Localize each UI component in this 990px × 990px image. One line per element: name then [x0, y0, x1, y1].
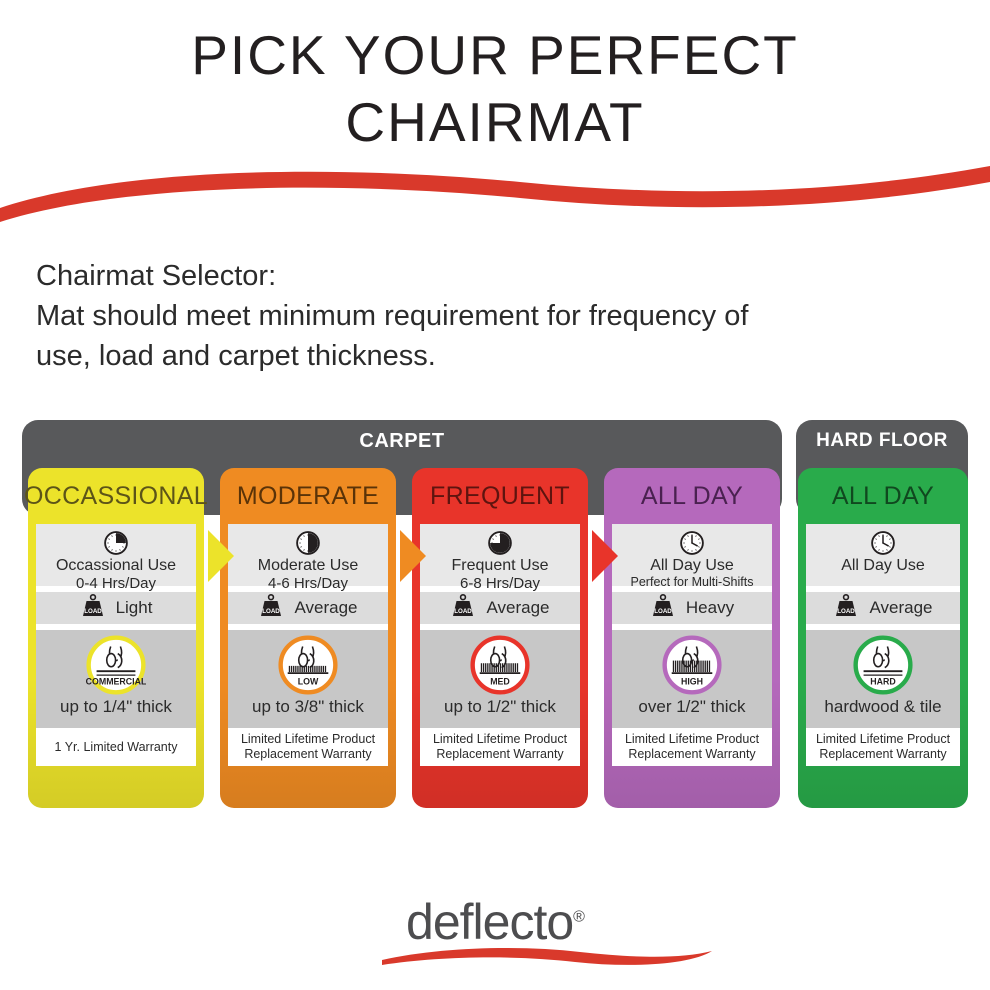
flow-arrow-icon: [208, 530, 234, 582]
caster-wheel-high-pile-icon: HIGH: [612, 635, 772, 695]
svg-text:LOAD: LOAD: [263, 608, 281, 615]
load-value: Average: [294, 598, 357, 618]
group-label-hard-floor: HARD FLOOR: [796, 430, 968, 452]
warranty-text: Limited Lifetime ProductReplacement Warr…: [625, 732, 759, 762]
frequency-of-use-cell: All Day Use: [806, 524, 960, 586]
load-value: Light: [116, 598, 153, 618]
thickness-value: hardwood & tile: [806, 697, 960, 717]
warranty-cell: Limited Lifetime ProductReplacement Warr…: [612, 728, 772, 766]
brand-name: deflecto: [406, 894, 573, 950]
column-header-frequent: FREQUENT: [412, 468, 588, 524]
chart-column-carpet-3[interactable]: FREQUENTFrequent Use6-8 Hrs/DayLOADAvera…: [412, 468, 588, 808]
use-label: All Day Use: [612, 558, 772, 575]
warranty-text: Limited Lifetime ProductReplacement Warr…: [816, 732, 950, 762]
load-value: Average: [869, 598, 932, 618]
use-subtext: Perfect for Multi-Shifts: [612, 575, 772, 590]
warranty-line-1: 1 Yr. Limited Warranty: [55, 740, 178, 755]
thickness-value: up to 1/2" thick: [420, 697, 580, 717]
svg-text:LOAD: LOAD: [84, 608, 102, 615]
load-weight-icon: LOAD: [450, 594, 476, 623]
thickness-value: over 1/2" thick: [612, 697, 772, 717]
frequency-of-use-cell: Frequent Use6-8 Hrs/Day: [420, 524, 580, 586]
intro-line-2: Mat should meet minimum requirement for …: [36, 296, 946, 336]
svg-text:MED: MED: [490, 676, 510, 686]
load-value: Average: [486, 598, 549, 618]
flow-arrow-icon: [400, 530, 426, 582]
registered-trademark-icon: ®: [573, 908, 584, 925]
chart-column-hard-floor-5[interactable]: ALL DAYAll Day UseLOADAverageHARDhardwoo…: [798, 468, 968, 808]
use-label: Moderate Use: [228, 558, 388, 575]
chart-column-carpet-4[interactable]: ALL DAYAll Day UsePerfect for Multi-Shif…: [604, 468, 780, 808]
carpet-thickness-cell: HIGHover 1/2" thick: [612, 630, 772, 728]
clock-quarter-icon: [36, 528, 196, 558]
use-label: Frequent Use: [420, 558, 580, 575]
load-cell: LOADLight: [36, 592, 196, 624]
intro-line-3: use, load and carpet thickness.: [36, 336, 946, 376]
svg-text:LOAD: LOAD: [455, 608, 473, 615]
frequency-of-use-cell: Occassional Use0-4 Hrs/Day: [36, 524, 196, 586]
infographic-page: PICK YOUR PERFECT CHAIRMAT Chairmat Sele…: [0, 0, 990, 990]
thickness-value: up to 1/4" thick: [36, 697, 196, 717]
warranty-line-1: Limited Lifetime Product: [433, 732, 567, 747]
load-weight-icon: LOAD: [80, 594, 106, 623]
svg-text:LOAD: LOAD: [654, 608, 672, 615]
caster-wheel-low-pile-icon: LOW: [228, 635, 388, 695]
use-label: Occassional Use: [36, 558, 196, 575]
svg-text:COMMERCIAL: COMMERCIAL: [86, 676, 146, 686]
column-header-all-day: ALL DAY: [798, 468, 968, 524]
flow-arrow-icon: [592, 530, 618, 582]
svg-text:LOW: LOW: [298, 676, 319, 686]
load-weight-icon: LOAD: [650, 594, 676, 623]
warranty-line-1: Limited Lifetime Product: [816, 732, 950, 747]
clock-full-icon: [612, 528, 772, 558]
warranty-line-1: Limited Lifetime Product: [241, 732, 375, 747]
clock-half-icon: [228, 528, 388, 558]
page-title: PICK YOUR PERFECT CHAIRMAT: [0, 22, 990, 156]
chairmat-selector-chart: CARPET HARD FLOOR OCCASSIONALOccassional…: [0, 420, 990, 820]
load-cell: LOADAverage: [806, 592, 960, 624]
load-weight-icon: LOAD: [258, 594, 284, 623]
title-line-1: PICK YOUR PERFECT: [191, 24, 799, 86]
intro-line-1: Chairmat Selector:: [36, 256, 946, 296]
use-hours: 0-4 Hrs/Day: [36, 575, 196, 592]
logo-red-swoosh: [0, 943, 990, 969]
brand-logo: deflecto®: [0, 893, 990, 968]
chart-column-carpet-2[interactable]: MODERATEModerate Use4-6 Hrs/DayLOADAvera…: [220, 468, 396, 808]
use-hours: 6-8 Hrs/Day: [420, 575, 580, 592]
intro-paragraph: Chairmat Selector: Mat should meet minim…: [36, 256, 946, 376]
warranty-cell: Limited Lifetime ProductReplacement Warr…: [228, 728, 388, 766]
frequency-of-use-cell: Moderate Use4-6 Hrs/Day: [228, 524, 388, 586]
column-header-moderate: MODERATE: [220, 468, 396, 524]
svg-text:LOAD: LOAD: [838, 608, 856, 615]
load-weight-icon: LOAD: [833, 594, 859, 623]
load-cell: LOADAverage: [228, 592, 388, 624]
clock-three-quarter-icon: [420, 528, 580, 558]
warranty-cell: Limited Lifetime ProductReplacement Warr…: [806, 728, 960, 766]
load-cell: LOADHeavy: [612, 592, 772, 624]
frequency-of-use-cell: All Day UsePerfect for Multi-Shifts: [612, 524, 772, 586]
use-label: All Day Use: [806, 558, 960, 575]
clock-full-icon: [806, 528, 960, 558]
svg-text:HARD: HARD: [870, 676, 895, 686]
warranty-line-1: Limited Lifetime Product: [625, 732, 759, 747]
carpet-thickness-cell: COMMERCIALup to 1/4" thick: [36, 630, 196, 728]
carpet-thickness-cell: HARDhardwood & tile: [806, 630, 960, 728]
chart-column-carpet-1[interactable]: OCCASSIONALOccassional Use0-4 Hrs/DayLOA…: [28, 468, 204, 808]
warranty-line-2: Replacement Warranty: [625, 747, 759, 762]
group-label-carpet: CARPET: [22, 430, 782, 453]
warranty-line-2: Replacement Warranty: [433, 747, 567, 762]
use-hours: 4-6 Hrs/Day: [228, 575, 388, 592]
warranty-line-2: Replacement Warranty: [816, 747, 950, 762]
thickness-value: up to 3/8" thick: [228, 697, 388, 717]
svg-text:HIGH: HIGH: [681, 676, 703, 686]
column-header-occassional: OCCASSIONAL: [28, 468, 204, 524]
warranty-text: Limited Lifetime ProductReplacement Warr…: [241, 732, 375, 762]
warranty-line-2: Replacement Warranty: [241, 747, 375, 762]
caster-wheel-hard-floor-icon: HARD: [806, 635, 960, 695]
caster-wheel-hard-surface-icon: COMMERCIAL: [36, 635, 196, 695]
carpet-thickness-cell: LOWup to 3/8" thick: [228, 630, 388, 728]
caster-wheel-medium-pile-icon: MED: [420, 635, 580, 695]
load-value: Heavy: [686, 598, 734, 618]
title-line-2: CHAIRMAT: [0, 89, 990, 156]
column-header-all-day: ALL DAY: [604, 468, 780, 524]
warranty-cell: 1 Yr. Limited Warranty: [36, 728, 196, 766]
load-cell: LOADAverage: [420, 592, 580, 624]
warranty-text: 1 Yr. Limited Warranty: [55, 740, 178, 755]
warranty-text: Limited Lifetime ProductReplacement Warr…: [433, 732, 567, 762]
red-swoosh-divider: [0, 160, 990, 222]
carpet-thickness-cell: MEDup to 1/2" thick: [420, 630, 580, 728]
warranty-cell: Limited Lifetime ProductReplacement Warr…: [420, 728, 580, 766]
